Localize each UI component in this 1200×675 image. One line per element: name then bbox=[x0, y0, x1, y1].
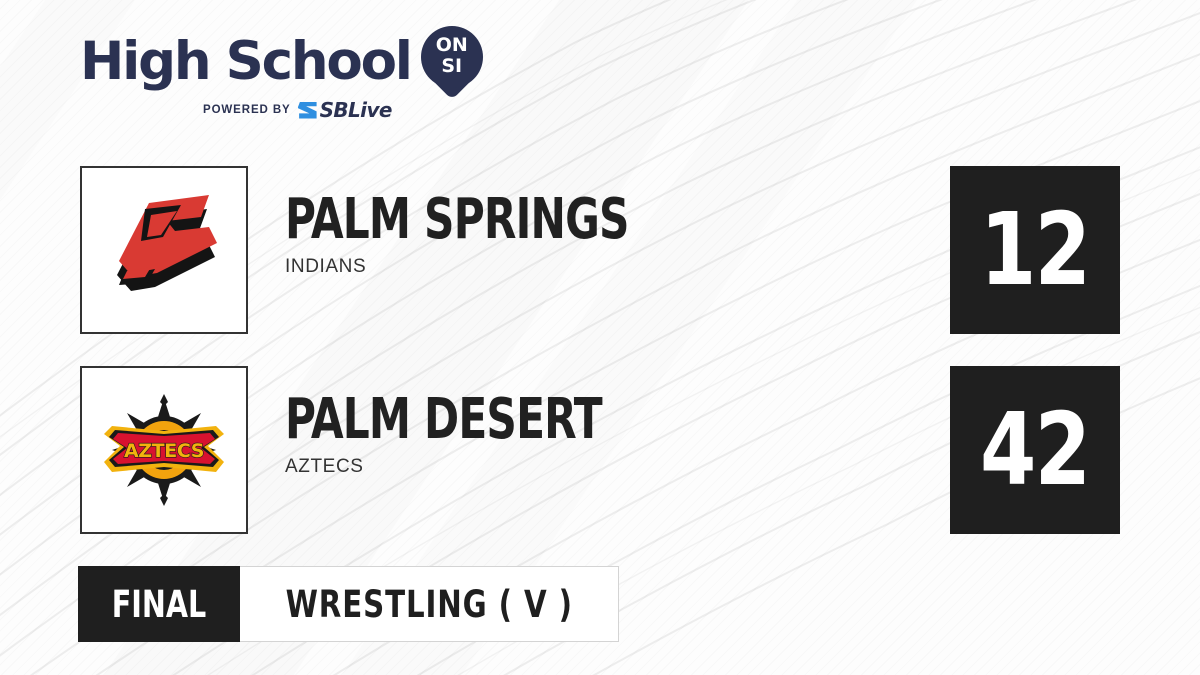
score-box-palm-springs: 12 bbox=[950, 166, 1120, 334]
powered-by-label: POWERED BY bbox=[203, 104, 291, 116]
pin-label-si: SI bbox=[421, 56, 483, 77]
team-text-palm-springs: PALM SPRINGS INDIANS bbox=[285, 190, 694, 278]
powered-by-row: POWERED BY SBLive bbox=[80, 98, 510, 122]
score-box-palm-desert: 42 bbox=[950, 366, 1120, 534]
score-value: 12 bbox=[980, 200, 1089, 300]
brand-wordmark: High School bbox=[80, 34, 411, 90]
svg-text:AZTECS: AZTECS bbox=[124, 440, 204, 462]
sblive-bolt-icon bbox=[298, 102, 317, 119]
brand-header: High School ON SI POWERED BY SBLive bbox=[80, 32, 510, 122]
team-name: PALM SPRINGS bbox=[285, 190, 629, 250]
team-text-palm-desert: PALM DESERT AZTECS bbox=[285, 390, 662, 478]
team-mascot: AZTECS bbox=[285, 456, 662, 478]
sblive-wordmark: SBLive bbox=[320, 98, 392, 122]
team-logo-box-palm-springs bbox=[80, 166, 248, 334]
pin-label-on: ON bbox=[421, 35, 483, 56]
status-bar: FINAL WRESTLING ( V ) bbox=[78, 566, 619, 642]
palm-desert-aztecs-medallion-icon: AZTECS bbox=[89, 375, 239, 525]
sport-label: WRESTLING ( V ) bbox=[286, 583, 573, 626]
team-mascot: INDIANS bbox=[285, 256, 694, 278]
on-si-pin-icon: ON SI bbox=[421, 26, 483, 100]
score-value: 42 bbox=[980, 400, 1089, 500]
team-name: PALM DESERT bbox=[285, 390, 602, 450]
sblive-logo: SBLive bbox=[298, 98, 392, 122]
game-status-badge: FINAL bbox=[78, 566, 240, 642]
team-logo-box-palm-desert: AZTECS bbox=[80, 366, 248, 534]
game-status-label: FINAL bbox=[112, 583, 207, 626]
pin-label: ON SI bbox=[421, 35, 483, 77]
palm-springs-ps-monogram-icon bbox=[89, 175, 239, 325]
scorecard: High School ON SI POWERED BY SBLive bbox=[0, 0, 1200, 675]
sport-label-box: WRESTLING ( V ) bbox=[240, 566, 619, 642]
